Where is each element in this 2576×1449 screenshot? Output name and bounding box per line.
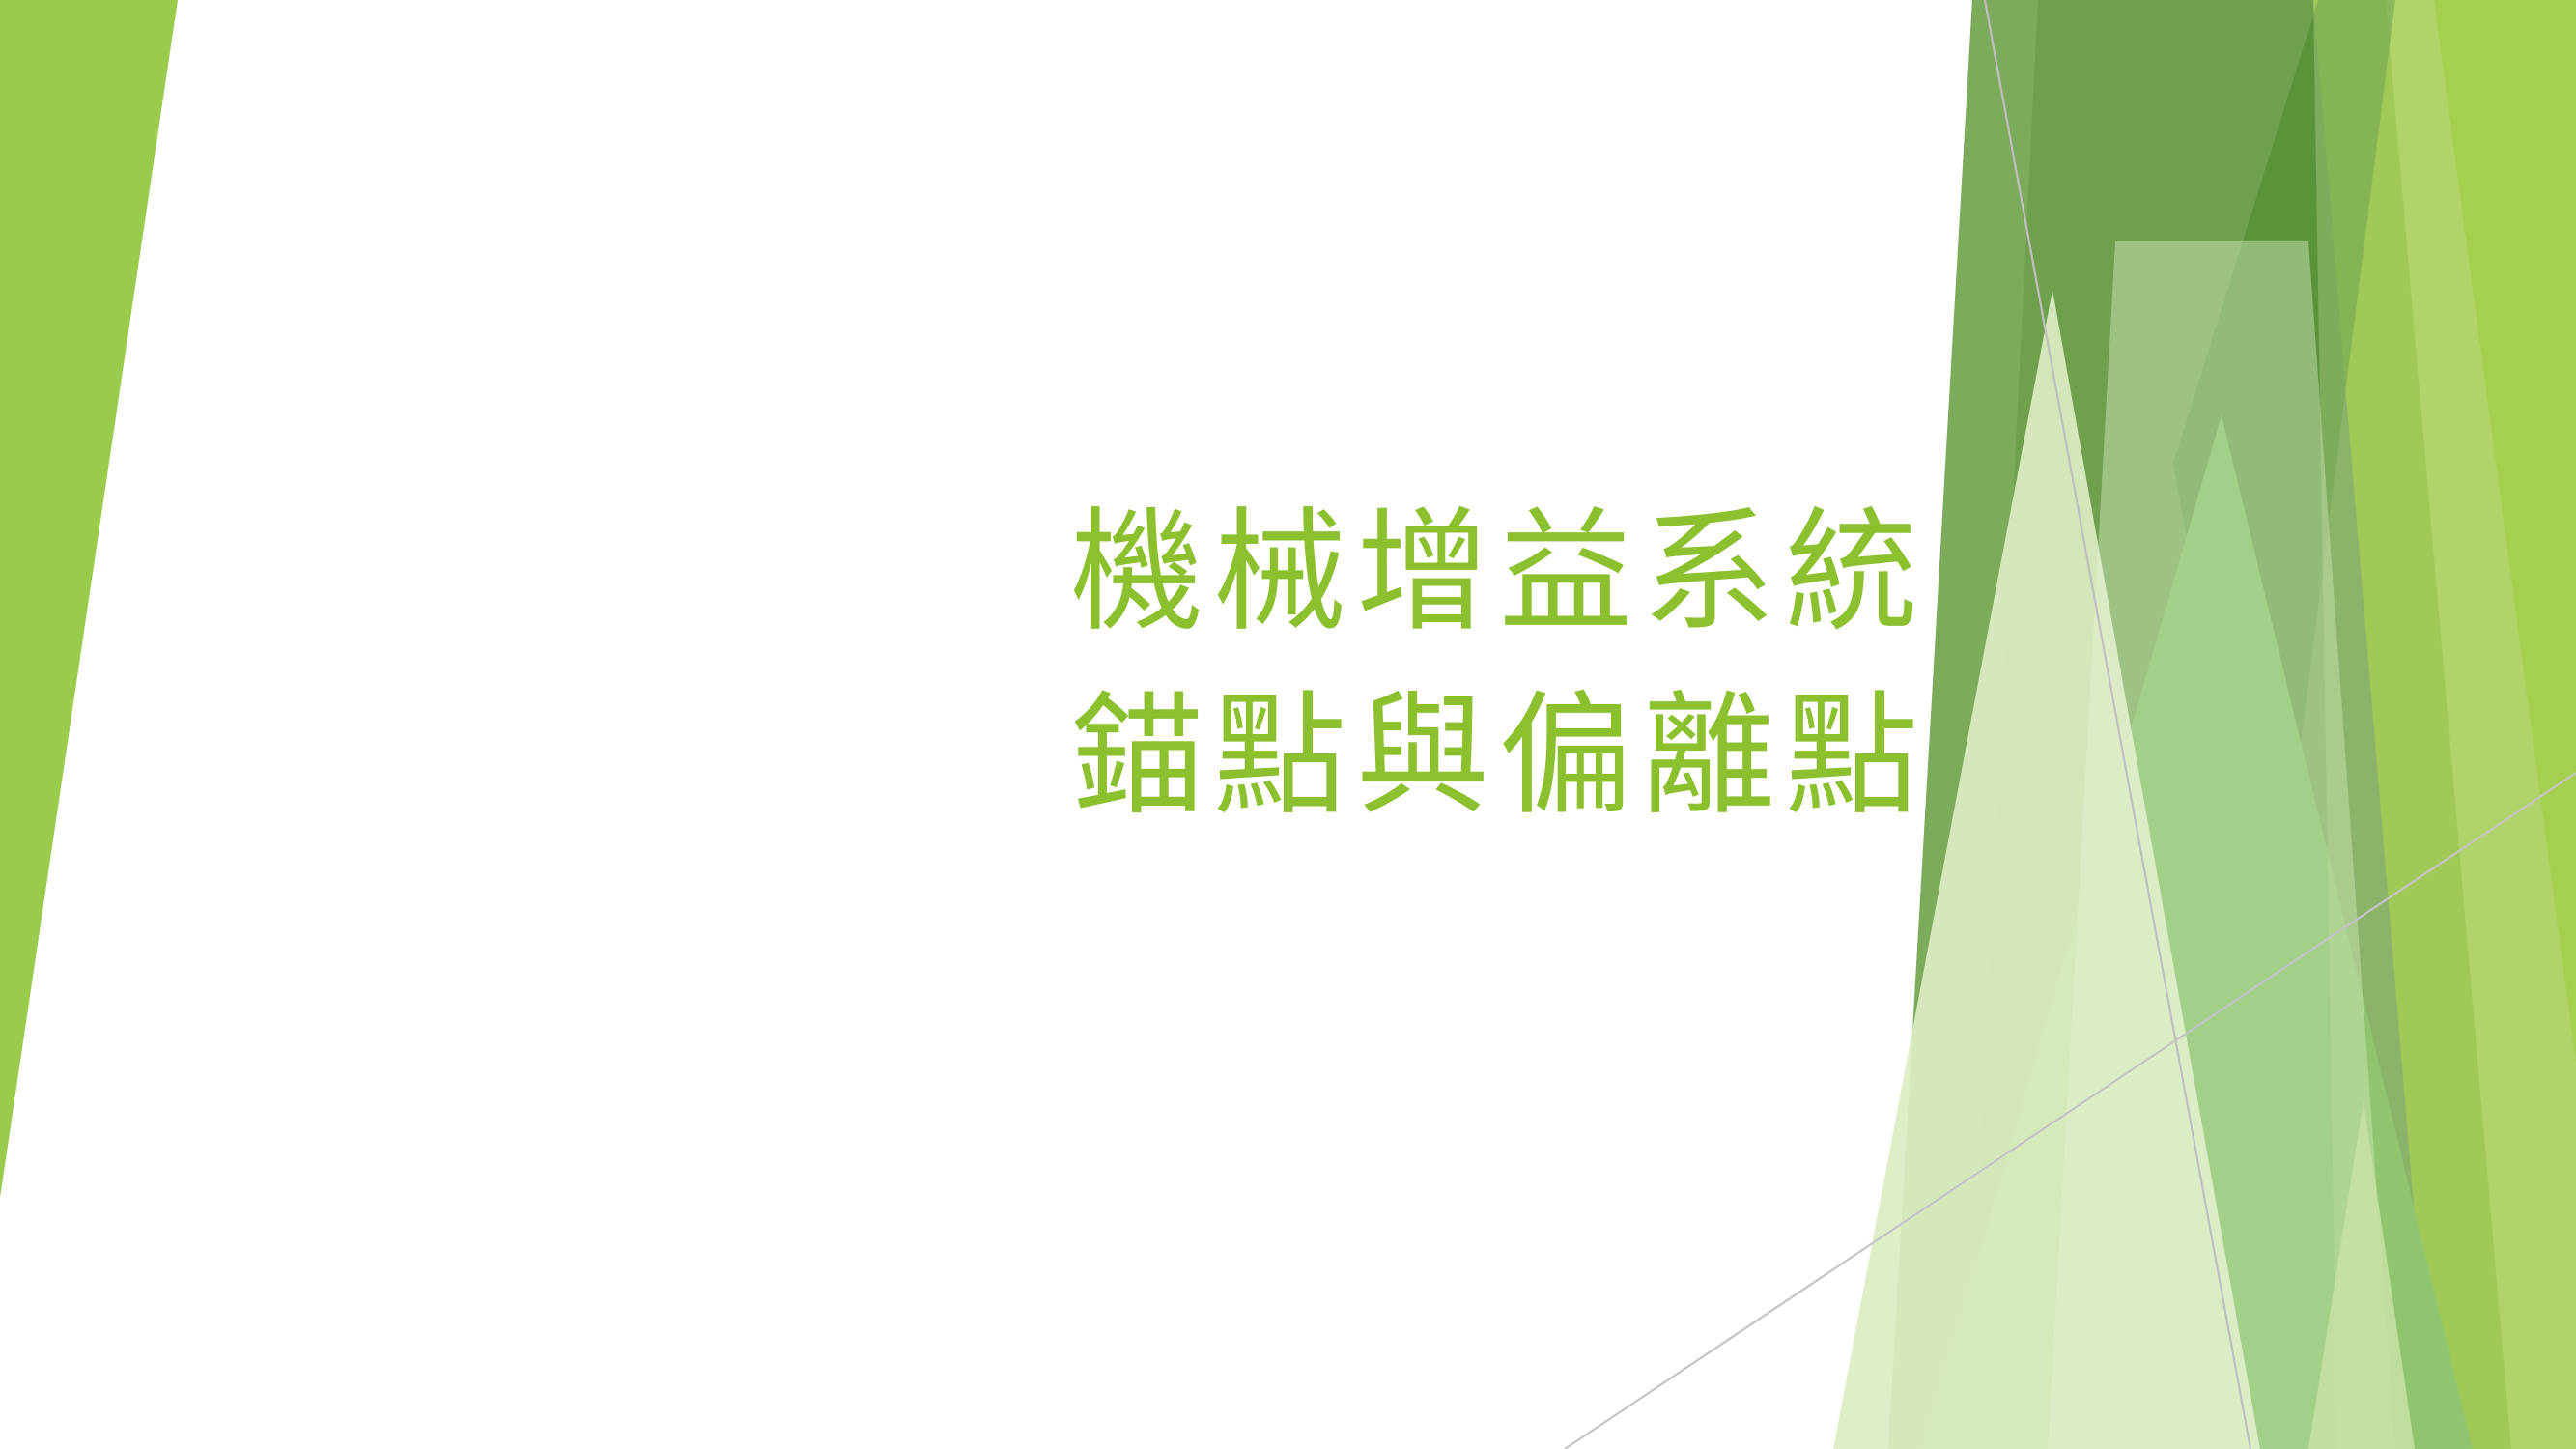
left-wedge-shape xyxy=(0,0,178,1198)
shape-lime-mid-slab xyxy=(2077,0,2511,1449)
shape-lime-base xyxy=(2028,0,2576,1449)
shape-pale-sliver-bottom xyxy=(2308,1101,2415,1449)
shape-sage-main xyxy=(1888,0,2434,1449)
hairline-steep xyxy=(1985,0,2250,1449)
shape-lime-light-column xyxy=(2250,0,2576,1449)
shape-dark-green-triangle xyxy=(2173,0,2395,985)
shape-green-mid-band xyxy=(1922,415,2473,1449)
slide-canvas: 機械增益系統 錨點與偏離點 xyxy=(0,0,2576,1449)
shape-pale-overlay-column xyxy=(2048,241,2395,1449)
title-line-1: 機械增益系統 xyxy=(1070,481,1959,665)
shape-pale-wedge-large xyxy=(1833,290,2260,1449)
shape-soft-overlay-right xyxy=(2313,0,2576,1449)
title-text-block: 機械增益系統 錨點與偏離點 xyxy=(1070,481,1959,848)
hairline-shallow xyxy=(1565,773,2576,1449)
title-line-2: 錨點與偏離點 xyxy=(1070,665,1959,848)
